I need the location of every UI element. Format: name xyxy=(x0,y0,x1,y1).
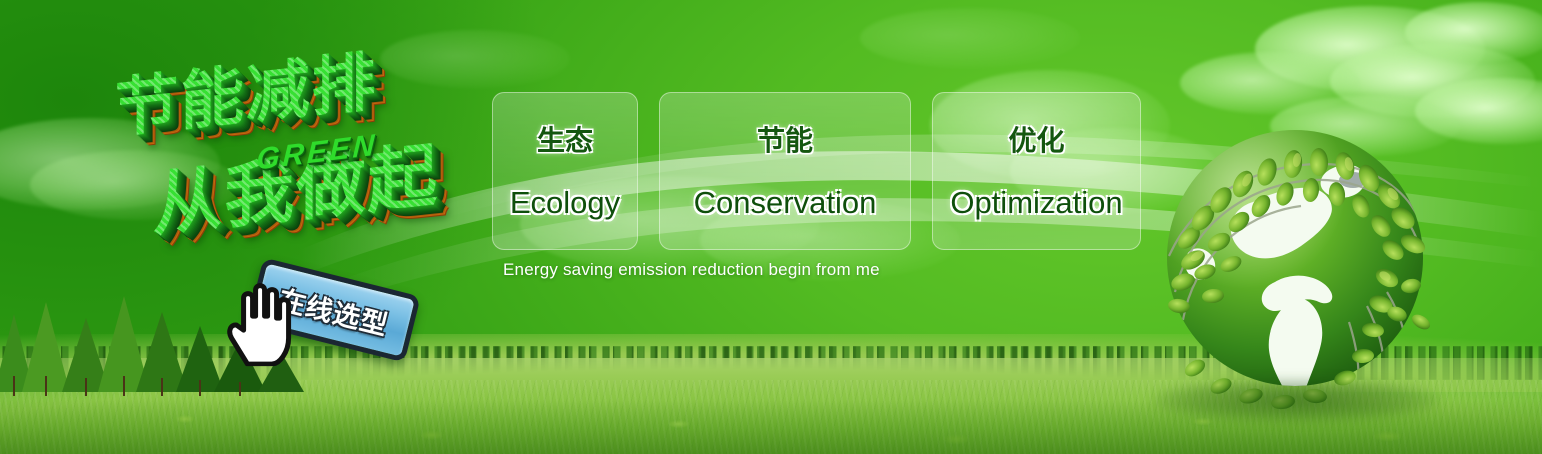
card-ecology-en: Ecology xyxy=(510,185,620,221)
card-ecology[interactable]: 生态 Ecology xyxy=(492,92,638,250)
feature-card-list: 生态 Ecology 节能 Conservation 优化 Optimizati… xyxy=(492,92,1141,250)
card-optimization[interactable]: 优化 Optimization xyxy=(932,92,1141,250)
card-optimization-cn: 优化 xyxy=(1008,119,1064,159)
tagline: Energy saving emission reduction begin f… xyxy=(503,260,880,280)
page-title: 节能减排 节能减排 从我做起 从我做起 GREEN xyxy=(104,38,484,268)
leafy-globe-icon xyxy=(1135,106,1455,426)
globe-shadow xyxy=(1153,378,1441,422)
green-energy-banner: 节能减排 节能减排 从我做起 从我做起 GREEN 在线选型 生态 Ecolog… xyxy=(0,0,1542,454)
card-ecology-cn: 生态 xyxy=(537,119,593,159)
card-optimization-en: Optimization xyxy=(950,185,1122,221)
online-selection-label: 在线选型 xyxy=(275,278,393,343)
card-conservation[interactable]: 节能 Conservation xyxy=(659,92,911,250)
card-conservation-cn: 节能 xyxy=(757,119,813,159)
card-conservation-en: Conservation xyxy=(694,185,877,221)
